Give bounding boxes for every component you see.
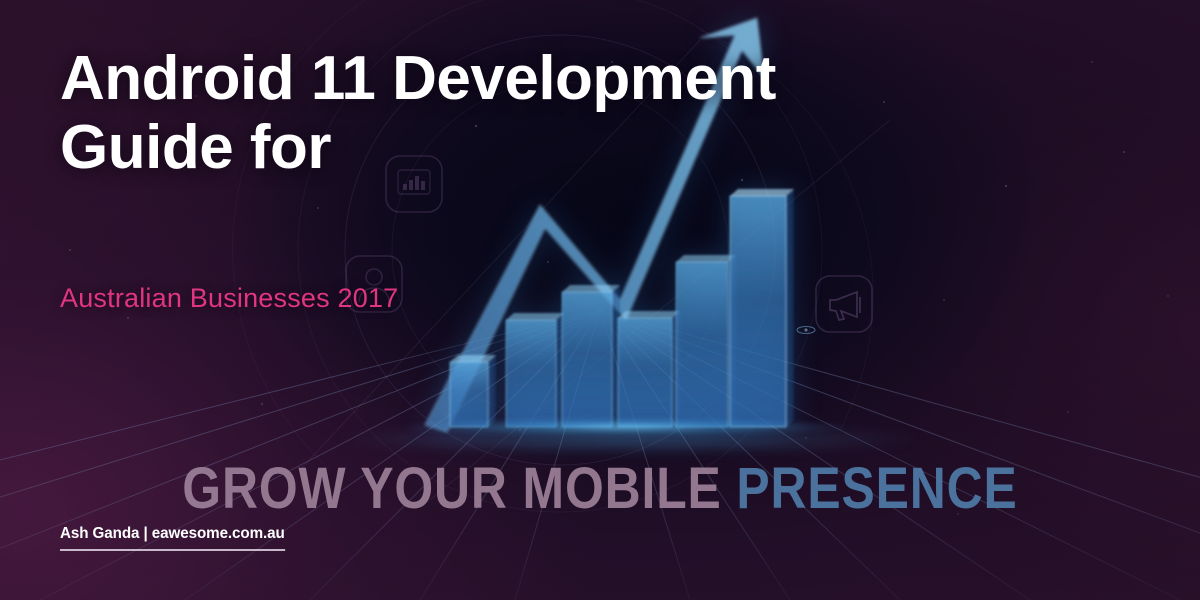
chart-bar-3 (562, 285, 620, 427)
page-title: Android 11 Development Guide for (60, 44, 960, 183)
chart-bar-5 (676, 255, 736, 427)
promo-banner: GROW YOUR MOBILE PRESENCE Android 11 Dev… (0, 0, 1200, 600)
chart-bar-6 (730, 189, 794, 427)
page-subtitle: Australian Businesses 2017 (60, 283, 398, 314)
chart-bar-2 (506, 313, 564, 427)
slogan-watermark: GROW YOUR MOBILE PRESENCE (84, 460, 1116, 518)
megaphone-badge-icon (808, 268, 880, 340)
chart-baseline-glow (395, 419, 855, 435)
slogan-part-one: GROW YOUR MOBILE (182, 456, 721, 521)
slogan-part-two: PRESENCE (736, 456, 1017, 521)
author-byline[interactable]: Ash Ganda | eawesome.com.au (60, 525, 285, 551)
chart-bar-1 (450, 355, 496, 427)
chart-bar-4 (618, 311, 680, 427)
